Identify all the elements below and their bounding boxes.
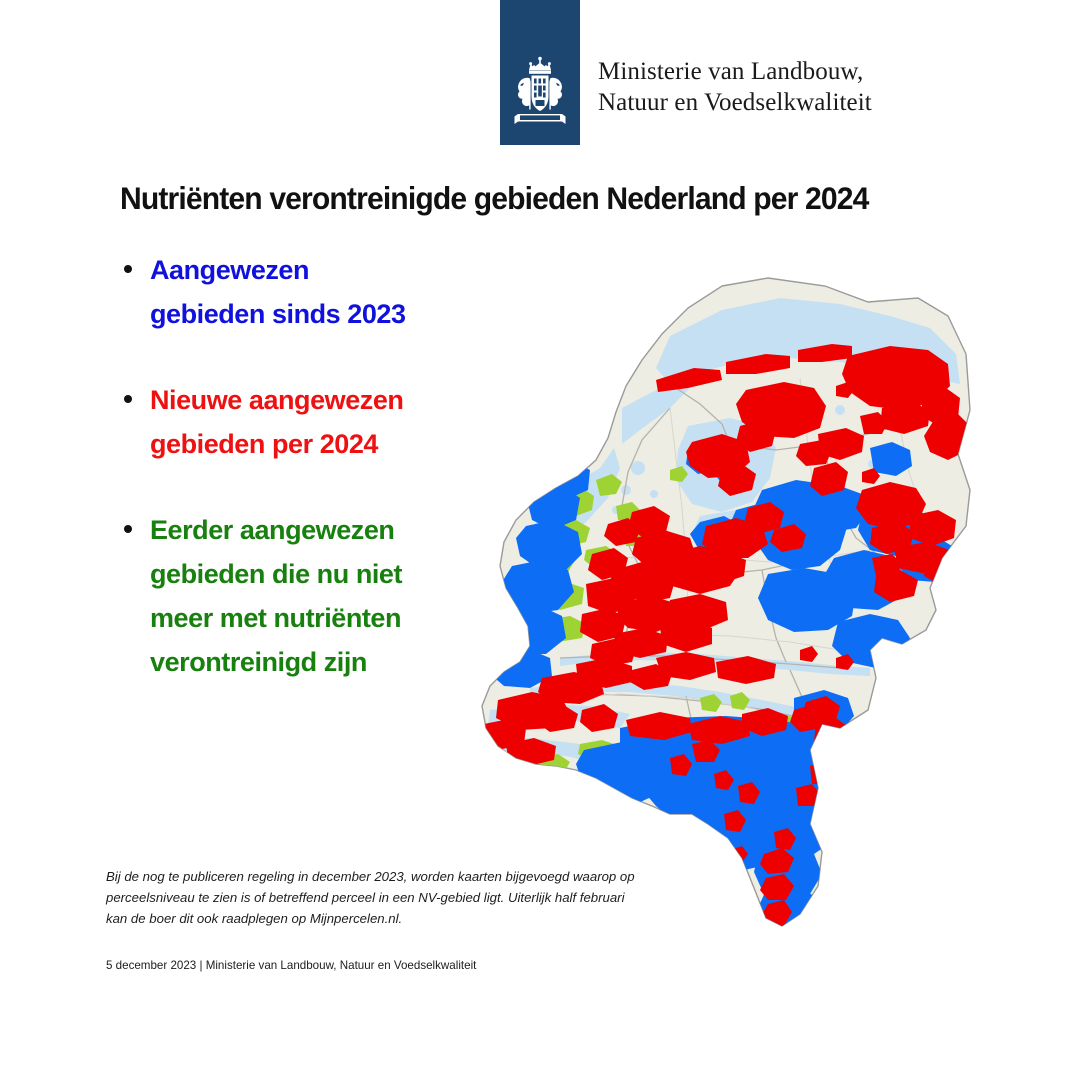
netherlands-map <box>370 258 1010 978</box>
bullet-icon <box>124 265 132 273</box>
footnote-line3: boer dit ook raadplegen op Mijnpercelen.… <box>149 911 402 926</box>
map-container <box>370 258 1010 978</box>
ministry-name-line1: Ministerie van Landbouw, <box>598 56 908 87</box>
bullet-icon <box>124 525 132 533</box>
bullet-icon <box>124 395 132 403</box>
ministry-name-line2: Natuur en Voedselkwaliteit <box>598 87 908 118</box>
ministry-logo: Ministerie van Landbouw, Natuur en Voeds… <box>500 0 920 145</box>
dutch-coat-of-arms-icon <box>508 54 572 134</box>
page-title: Nutriënten verontreinigde gebieden Neder… <box>120 180 980 217</box>
ministry-name: Ministerie van Landbouw, Natuur en Voeds… <box>598 56 908 118</box>
